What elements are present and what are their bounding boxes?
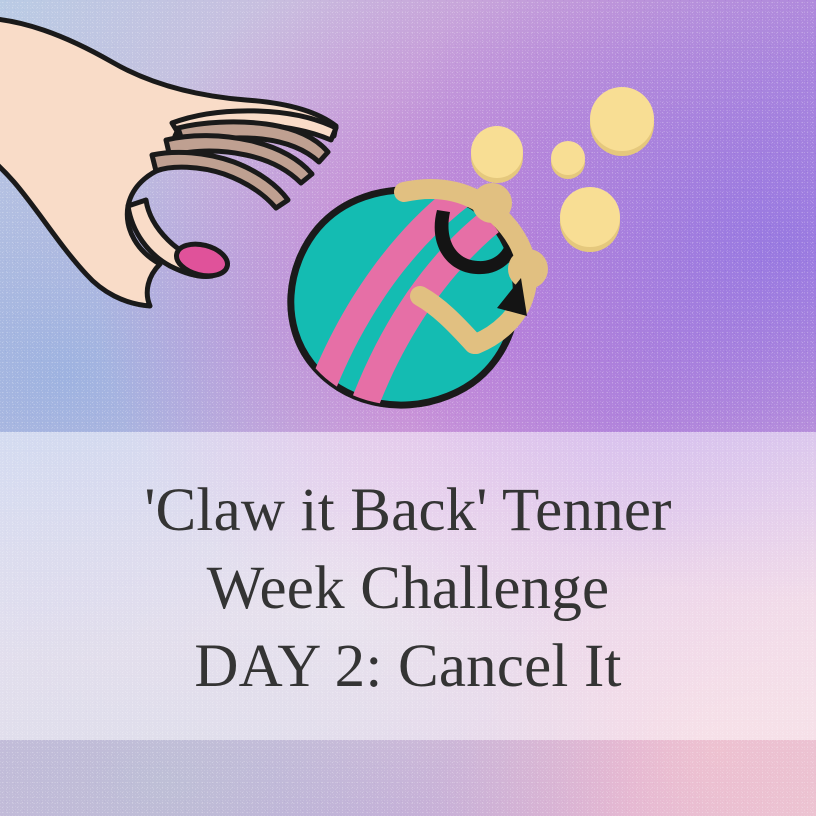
thumb-nail <box>173 239 231 281</box>
coin-medium-left-icon <box>471 126 523 183</box>
poster-canvas: 'Claw it Back' Tenner Week Challenge DAY… <box>0 0 816 816</box>
caption-line-3: DAY 2: Cancel It <box>194 628 621 706</box>
purse-clasp-knob-upper <box>472 183 512 223</box>
purse-clasp-knob-lower <box>508 249 548 289</box>
caption-line-1: 'Claw it Back' Tenner <box>144 472 671 550</box>
coin-medium-bottom-icon <box>560 187 620 252</box>
coin-purse-icon <box>291 172 548 424</box>
caption-band: 'Claw it Back' Tenner Week Challenge DAY… <box>0 432 816 740</box>
coin-large-top-right-icon <box>590 87 654 156</box>
caption-line-2: Week Challenge <box>207 550 610 628</box>
reaching-hand-icon <box>0 18 336 306</box>
coin-small-center-icon <box>551 141 585 179</box>
